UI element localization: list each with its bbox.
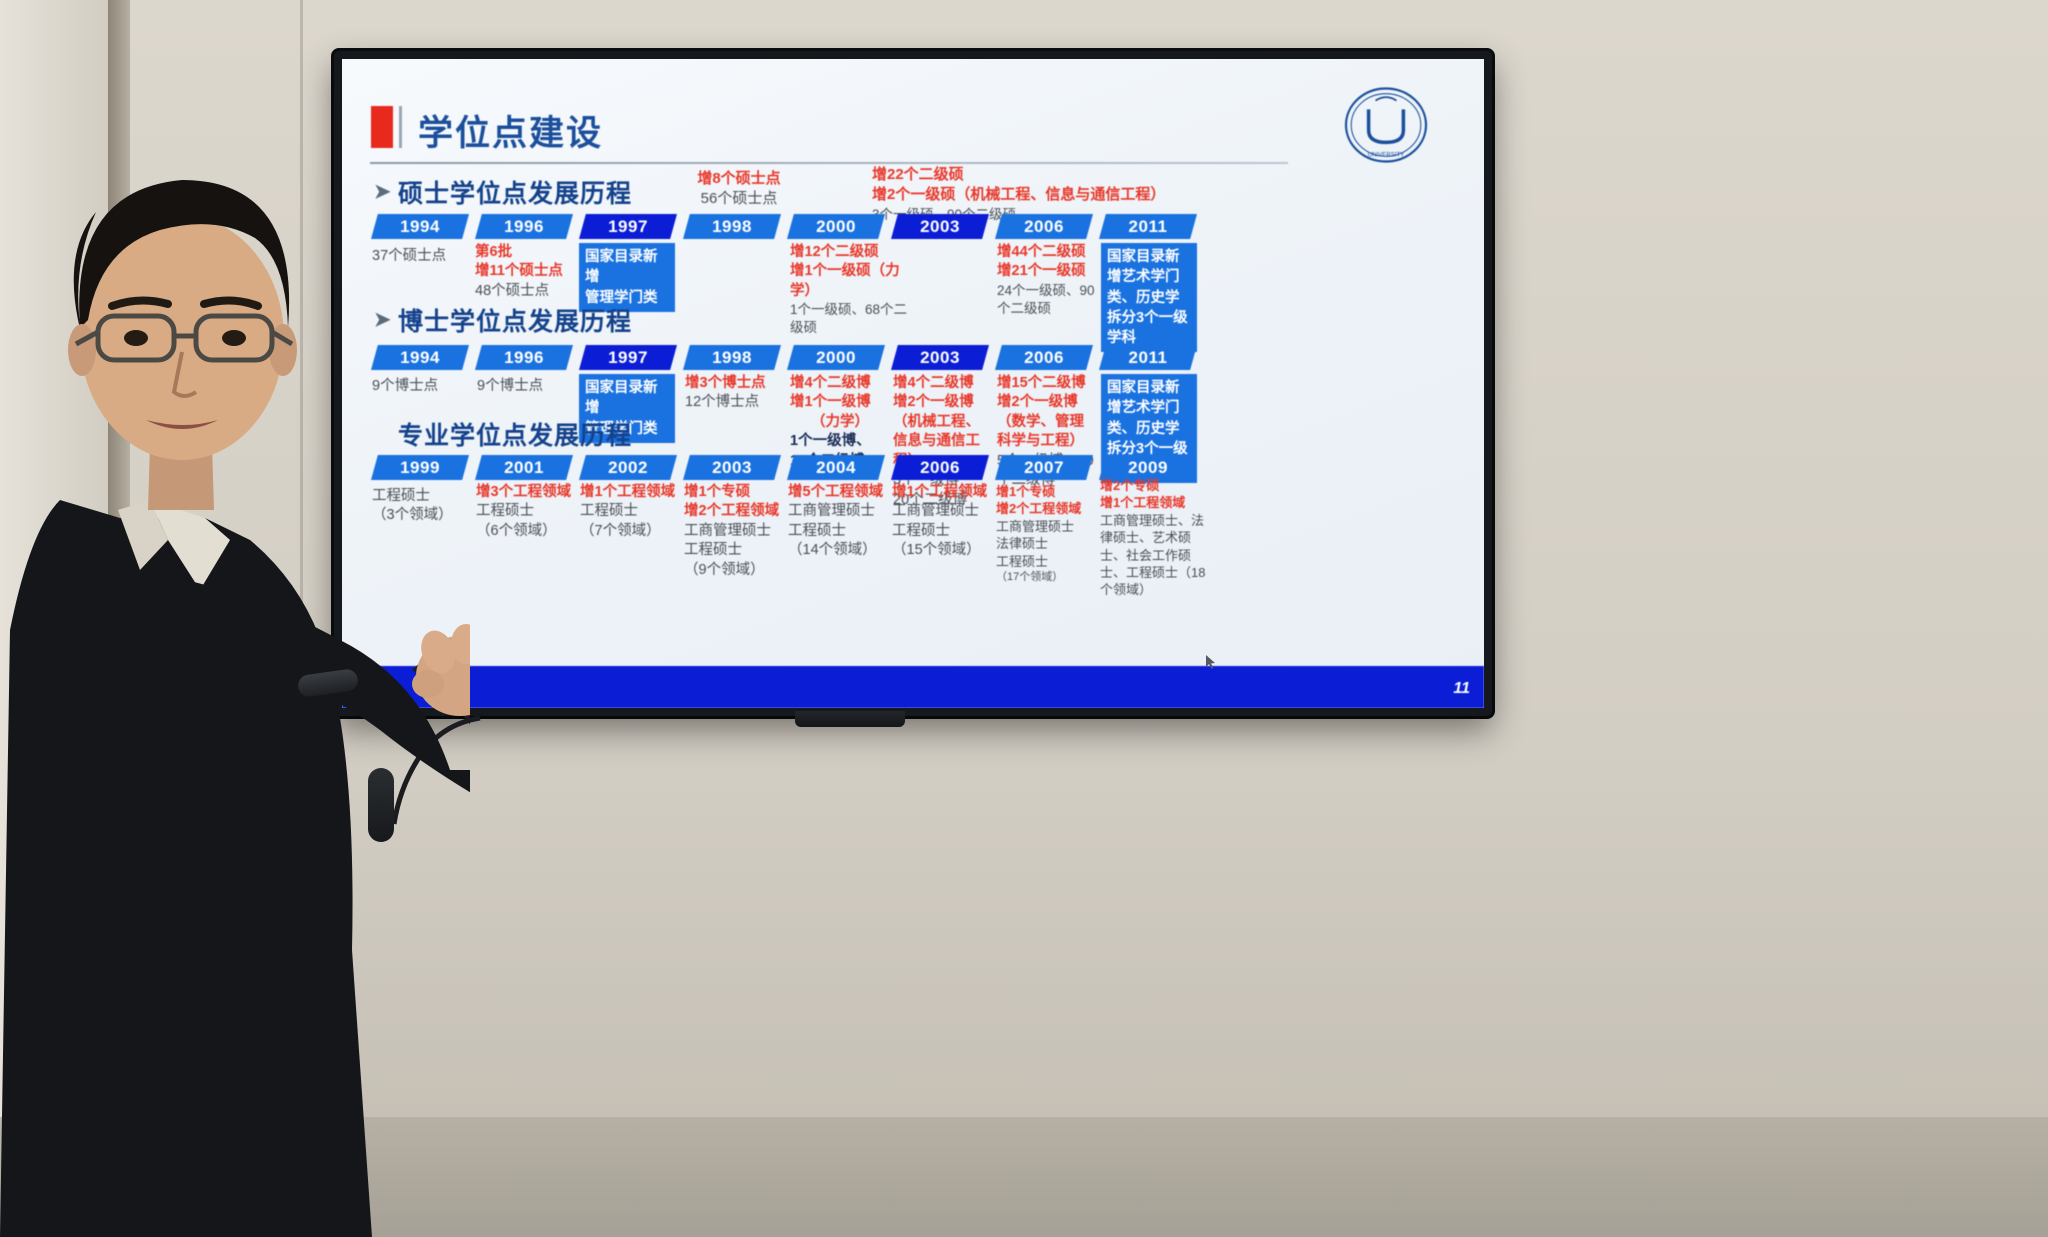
year-bar-masters-1997[interactable]: 1997 (579, 214, 677, 239)
presentation-slide: 学位点建设 UNIVERSITY ➤ 硕士学位点发展历程 增8个硕士点 56个硕… (342, 59, 1484, 708)
year-bar-doctoral-2003[interactable]: 2003 (891, 345, 989, 370)
year-bar-masters-1998[interactable]: 1998 (683, 214, 781, 239)
year-bar-masters-1996[interactable]: 1996 (475, 214, 573, 239)
cell-professional-2003: 增1个专硕 增2个工程领域 工商管理硕士 工程硕士 （9个领域） (684, 483, 792, 580)
chip-masters-2011: 国家目录新增艺术学门类、历史学拆分3个一级学科 (1101, 243, 1197, 352)
note-masters-1: 增8个硕士点 56个硕士点 (644, 169, 834, 210)
year-bar-doctoral-2011[interactable]: 2011 (1099, 345, 1197, 370)
cell-masters-2006: 增44个二级硕 增21个一级硕 24个一级硕、90个二级硕 (997, 243, 1105, 318)
year-bar-masters-2006[interactable]: 2006 (995, 214, 1093, 239)
cell-professional-2002: 增1个工程领域 工程硕士 （7个领域） (580, 483, 688, 541)
title-divider (370, 162, 1288, 164)
year-bar-professional-2002[interactable]: 2002 (579, 455, 677, 480)
year-bar-doctoral-1998[interactable]: 1998 (683, 345, 781, 370)
presenter (0, 70, 470, 1237)
television: 学位点建设 UNIVERSITY ➤ 硕士学位点发展历程 增8个硕士点 56个硕… (334, 51, 1492, 716)
cell-professional-2004: 增5个工程领域 工商管理硕士 工程硕士 （14个领域） (788, 483, 896, 561)
year-bar-masters-2011[interactable]: 2011 (1099, 214, 1197, 239)
cell-masters-2000: 增12个二级硕 增1个一级硕（力学） 1个一级硕、68个二级硕 (790, 243, 920, 337)
year-bar-professional-2001[interactable]: 2001 (475, 455, 573, 480)
cell-professional-2007: 增1个专硕 增2个工程领域 工商管理硕士 法律硕士 工程硕士 （17个领域） (996, 483, 1104, 585)
year-bar-doctoral-2000[interactable]: 2000 (787, 345, 885, 370)
year-bar-professional-2007[interactable]: 2007 (995, 455, 1093, 480)
year-bar-professional-2006[interactable]: 2006 (891, 455, 989, 480)
cell-doctoral-1998: 增3个博士点 12个博士点 (685, 374, 789, 413)
tv-stand (795, 711, 905, 727)
cell-masters-1996: 第6批 增11个硕士点 48个硕士点 (475, 243, 580, 301)
year-bar-doctoral-2006[interactable]: 2006 (995, 345, 1093, 370)
year-bar-professional-2004[interactable]: 2004 (787, 455, 885, 480)
year-bar-professional-2003[interactable]: 2003 (683, 455, 781, 480)
year-bar-doctoral-1996[interactable]: 1996 (475, 345, 573, 370)
year-bar-masters-2000[interactable]: 2000 (787, 214, 885, 239)
mouse-cursor (1206, 655, 1215, 669)
cell-professional-2009: 增2个专硕 增1个工程领域 工商管理硕士、法律硕士、艺术硕士、社会工作硕士、工程… (1100, 477, 1208, 599)
year-bar-doctoral-1997[interactable]: 1997 (579, 345, 677, 370)
svg-text:UNIVERSITY: UNIVERSITY (1368, 151, 1404, 158)
university-crest-icon: UNIVERSITY (1342, 85, 1430, 165)
tv-screen[interactable]: 学位点建设 UNIVERSITY ➤ 硕士学位点发展历程 增8个硕士点 56个硕… (342, 59, 1484, 708)
slide-footer-band: 11 (342, 666, 1484, 708)
cell-professional-2006: 增1个工程领域 工商管理硕士 工程硕士 （15个领域） (892, 483, 1000, 561)
year-bar-masters-2003[interactable]: 2003 (891, 214, 989, 239)
cell-professional-2001: 增3个工程领域 工程硕士 （6个领域） (476, 483, 584, 541)
cell-doctoral-1996: 9个博士点 (477, 377, 577, 396)
slide-page-number: 11 (1453, 680, 1470, 698)
